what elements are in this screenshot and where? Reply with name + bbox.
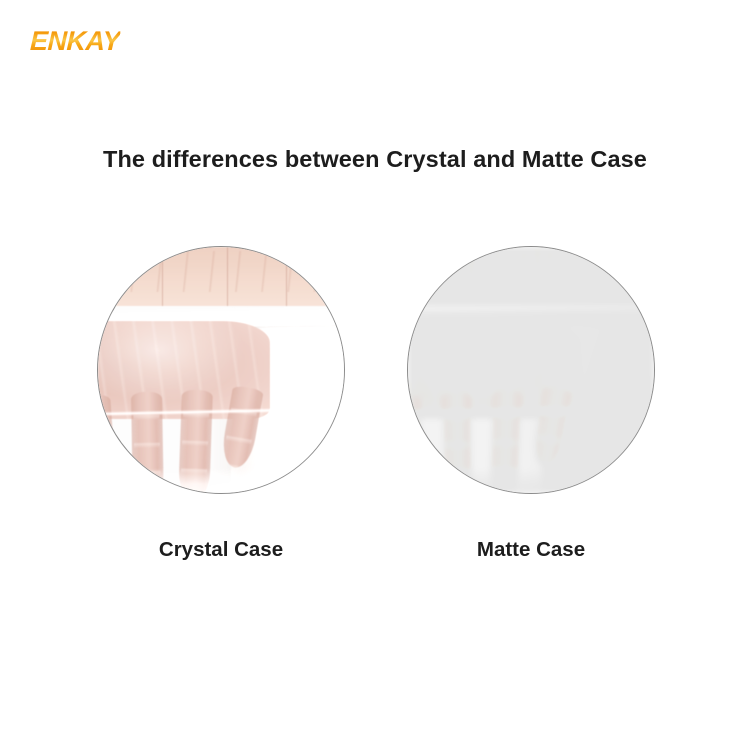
- lower-white-fade: [98, 468, 344, 493]
- caption-matte-case: Matte Case: [407, 538, 655, 562]
- matte-case-photo: [407, 246, 655, 494]
- lower-white-fade: [408, 468, 654, 493]
- hand-through-crystal-case-scene: [98, 247, 344, 493]
- comparison-item-crystal: [97, 246, 345, 494]
- caption-crystal-case: Crystal Case: [97, 538, 345, 562]
- enkay-logo: ENKAY: [30, 28, 121, 55]
- comparison-item-matte: [407, 246, 655, 494]
- skin-upper-band: [408, 247, 654, 306]
- skin-upper-band: [98, 247, 344, 306]
- page-title: The differences between Crystal and Matt…: [0, 146, 750, 173]
- comparison-row: [0, 246, 750, 506]
- crystal-case-photo: [97, 246, 345, 494]
- hand-through-matte-case-scene: [408, 247, 654, 493]
